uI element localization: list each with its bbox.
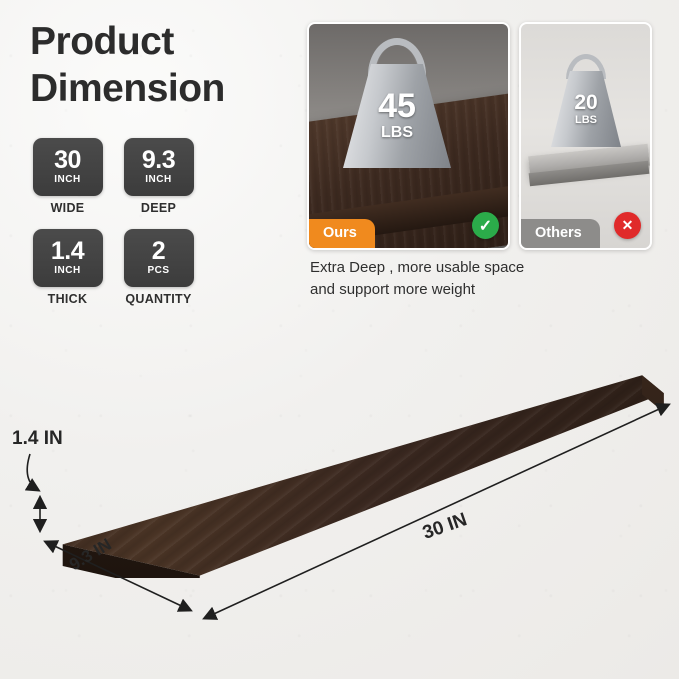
product-dimension-infographic: Product Dimension 30 INCH WIDE 9.3 INCH … xyxy=(0,0,679,679)
product-photo: 1.4 IN 9.3 IN 30 IN xyxy=(0,318,679,679)
shelf-top-face xyxy=(44,338,667,578)
spec-value: 30 xyxy=(54,148,81,173)
weight-unit: LBS xyxy=(381,123,413,143)
weight-value: 45 xyxy=(378,89,416,123)
comparison-caption-line1: Extra Deep , more usable space xyxy=(310,257,640,279)
spec-quantity: 2 PCS QUANTITY xyxy=(121,229,196,306)
spec-caption: QUANTITY xyxy=(121,292,196,306)
check-icon: ✓ xyxy=(472,212,499,239)
spec-value: 1.4 xyxy=(51,239,84,264)
tag-others: Others xyxy=(521,219,600,248)
thickness-label: 1.4 IN xyxy=(12,428,63,450)
spec-caption: DEEP xyxy=(121,201,196,215)
spec-unit: INCH xyxy=(54,264,80,277)
cross-icon: ✕ xyxy=(614,212,641,239)
comparison-caption: Extra Deep , more usable space and suppo… xyxy=(310,257,640,301)
spec-value: 9.3 xyxy=(142,148,175,173)
spec-wide: 30 INCH WIDE xyxy=(30,138,105,215)
spec-caption: WIDE xyxy=(30,201,105,215)
spec-thick: 1.4 INCH THICK xyxy=(30,229,105,306)
spec-unit: PCS xyxy=(147,264,169,277)
spec-caption: THICK xyxy=(30,292,105,306)
spec-unit: INCH xyxy=(145,173,171,186)
spec-chip: 9.3 INCH xyxy=(124,138,194,196)
spec-value: 2 xyxy=(152,239,165,264)
weight-45lbs: 45 LBS xyxy=(343,38,451,170)
spec-unit: INCH xyxy=(54,173,80,186)
spec-chip: 30 INCH xyxy=(33,138,103,196)
comparison-caption-line2: and support more weight xyxy=(310,279,640,301)
spec-row: 30 INCH WIDE 9.3 INCH DEEP xyxy=(30,138,280,215)
weight-value: 20 xyxy=(574,92,597,113)
spec-row: 1.4 INCH THICK 2 PCS QUANTITY xyxy=(30,229,280,306)
spec-deep: 9.3 INCH DEEP xyxy=(121,138,196,215)
spec-chip: 1.4 INCH xyxy=(33,229,103,287)
comparison-panel: 45 LBS Ours ✓ 20 LBS Others ✕ xyxy=(307,22,652,250)
spec-chip: 2 PCS xyxy=(124,229,194,287)
comparison-card-others: 20 LBS Others ✕ xyxy=(519,22,652,250)
comparison-card-ours: 45 LBS Ours ✓ xyxy=(307,22,510,250)
weight-body: 45 LBS xyxy=(343,64,451,168)
page-title-line1: Product xyxy=(30,18,300,65)
wood-shelf-render xyxy=(44,338,667,578)
weight-unit: LBS xyxy=(575,113,597,127)
spec-grid: 30 INCH WIDE 9.3 INCH DEEP 1.4 INCH THIC… xyxy=(30,138,280,306)
page-title: Product Dimension xyxy=(30,18,300,112)
weight-20lbs: 20 LBS xyxy=(551,54,621,150)
weight-body: 20 LBS xyxy=(551,71,621,147)
page-title-line2: Dimension xyxy=(30,65,300,112)
tag-ours: Ours xyxy=(309,219,375,248)
